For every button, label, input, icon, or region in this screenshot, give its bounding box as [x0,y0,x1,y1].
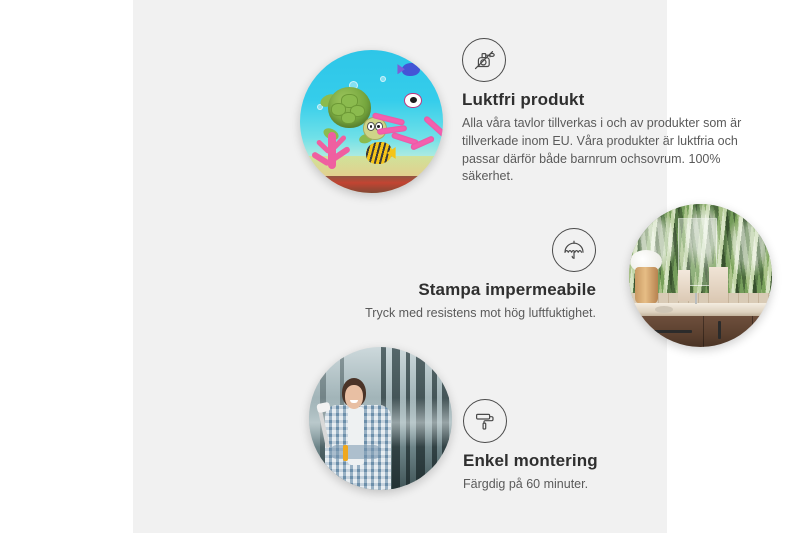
rolled-towel [678,270,691,301]
faucet-icon [695,293,697,304]
drawer-handle [649,330,692,333]
person-figure [320,378,400,490]
octopus-head [396,81,443,121]
crossed-arms [330,445,381,458]
hand-tool [343,445,348,461]
feature-waterproof: Stampa impermeabile Tryck med resistens … [361,228,596,323]
face [345,385,363,408]
ribbed-vase [635,267,658,304]
forest-scene [309,347,452,490]
stone-countertop [629,303,772,316]
ocean-scene [300,50,443,193]
bubble-icon [380,76,386,82]
door-handle [718,321,721,339]
paint-roller-icon [463,399,507,443]
door-handle [758,321,761,339]
umbrella-icon [552,228,596,272]
wooden-vanity-cabinet [629,316,772,347]
feature-odor-free: Luktfri produkt Alla våra tavlor tillver… [462,38,762,186]
feature-easy-mounting: Enkel montering Färgdig på 60 minuter. [463,399,723,494]
no-fragrance-icon [462,38,506,82]
bathroom-scene [629,204,772,347]
octopus-icon [389,81,443,150]
image-ocean-illustration [300,50,443,193]
feature-title: Luktfri produkt [462,90,762,110]
feature-title: Enkel montering [463,451,723,471]
image-forest-installer [309,347,452,490]
blue-fish-icon [402,63,421,76]
content-panel: Luktfri produkt Alla våra tavlor tillver… [133,0,667,533]
soap-dish [655,306,674,313]
ocean-foreground-strip [300,176,443,193]
image-bathroom-interior [629,204,772,347]
coral-icon [309,126,358,169]
feature-title: Stampa impermeabile [361,280,596,300]
feature-description: Tryck med resistens mot hög luftfuktighe… [361,305,596,323]
rolled-towel [709,267,728,304]
striped-fish-icon [366,142,392,165]
screenshot-root: Luktfri produkt Alla våra tavlor tillver… [0,0,800,533]
cabinet-seam [752,316,753,347]
octopus-eye [404,93,421,109]
feature-description: Färgdig på 60 minuter. [463,476,723,494]
cabinet-seam [703,316,704,347]
turtle-scute [341,112,356,124]
feature-description: Alla våra tavlor tillverkas i och av pro… [462,115,752,186]
